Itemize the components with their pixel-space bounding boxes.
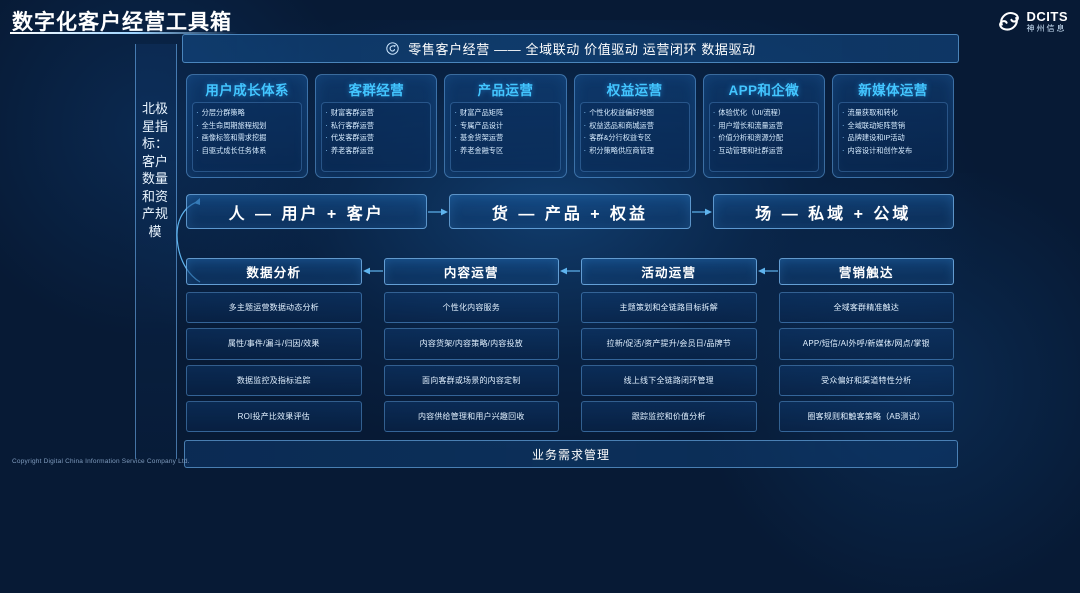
card-item: ·权益选品和商城运营 (584, 120, 686, 133)
grid-cell[interactable]: 数据监控及指标追踪 (186, 365, 362, 396)
card-item: ·自驱式成长任务体系 (196, 145, 298, 158)
grid-cell-label: APP/短信/AI外呼/新媒体/网点/掌银 (803, 338, 930, 349)
card-item-label: 财富客群运营 (331, 107, 374, 120)
card-item: ·基金货架运营 (454, 132, 556, 145)
compass-arrow-icon (385, 41, 400, 56)
card-item: ·个性化权益偏好地图 (584, 107, 686, 120)
grid-cell[interactable]: 线上线下全链路闭环管理 (581, 365, 757, 396)
card-item: ·流量获取和转化 (842, 107, 944, 120)
grid-cell[interactable]: 个性化内容服务 (384, 292, 560, 323)
flow-box-people[interactable]: 人 — 用户 + 客户 (186, 194, 427, 229)
grid-cell-label: 面向客群或场景的内容定制 (422, 375, 520, 386)
card-item: ·互动管理和社群运营 (713, 145, 815, 158)
section-column-content-ops: 个性化内容服务 内容货架/内容策略/内容投放 面向客群或场景的内容定制 内容供给… (384, 292, 560, 432)
capability-card[interactable]: 客群经营 ·财富客群运营 ·私行客群运营 ·代发客群运营 ·养老客群运营 (315, 74, 437, 178)
card-item: ·积分策略供应商管理 (584, 145, 686, 158)
grid-cell[interactable]: 内容货架/内容策略/内容投放 (384, 328, 560, 359)
grid-cell-label: 跟踪监控和价值分析 (632, 411, 706, 422)
card-item-label: 客群&分行权益专区 (589, 132, 651, 145)
card-item-label: 养老金融专区 (460, 145, 503, 158)
arrow-left-icon (362, 266, 384, 276)
bullet-icon: · (454, 107, 457, 120)
bullet-icon: · (454, 132, 457, 145)
card-item-list: ·个性化权益偏好地图 ·权益选品和商城运营 ·客群&分行权益专区 ·积分策略供应… (580, 102, 690, 172)
capability-card[interactable]: 产品运营 ·财富产品矩阵 ·专属产品设计 ·基金货架运营 ·养老金融专区 (444, 74, 566, 178)
card-item-label: 权益选品和商城运营 (589, 120, 654, 133)
card-item-label: 积分策略供应商管理 (589, 145, 654, 158)
card-item-list: ·财富产品矩阵 ·专属产品设计 ·基金货架运营 ·养老金融专区 (450, 102, 560, 172)
card-item-label: 分层分群策略 (202, 107, 245, 120)
banner-text: 零售客户经营 —— 全域联动 价值驱动 运营闭环 数据驱动 (408, 39, 755, 58)
section-header-row: 数据分析 内容运营 活动运营 营销触达 (186, 258, 954, 284)
card-item-label: 画像标签和需求挖掘 (202, 132, 267, 145)
bullet-icon: · (713, 132, 716, 145)
bullet-icon: · (842, 145, 845, 158)
flow-box-label: 货 — 产品 + 权益 (492, 200, 648, 224)
section-header-marketing-reach[interactable]: 营销触达 (779, 258, 955, 285)
card-item: ·养老客群运营 (325, 145, 427, 158)
grid-cell-label: 数据监控及指标追踪 (237, 375, 311, 386)
brand-logo: DCITS 神州信息 (997, 9, 1069, 33)
grid-cell[interactable]: 主题策划和全链路目标拆解 (581, 292, 757, 323)
card-item: ·财富客群运营 (325, 107, 427, 120)
capability-card[interactable]: 新媒体运营 ·流量获取和转化 ·全域联动矩阵营销 ·品牌建设和IP活动 ·内容设… (832, 74, 954, 178)
card-item-label: 私行客群运营 (331, 120, 374, 133)
bullet-icon: · (584, 107, 587, 120)
card-item: ·客群&分行权益专区 (584, 132, 686, 145)
bullet-icon: · (325, 107, 328, 120)
bullet-icon: · (842, 132, 845, 145)
hero-banner: 零售客户经营 —— 全域联动 价值驱动 运营闭环 数据驱动 (182, 34, 959, 63)
card-item: ·体验优化（UI/流程） (713, 107, 815, 120)
card-item-label: 流量获取和转化 (848, 107, 898, 120)
card-item: ·财富产品矩阵 (454, 107, 556, 120)
flow-box-label: 场 — 私域 + 公域 (755, 200, 911, 224)
card-title: 客群经营 (348, 79, 404, 99)
logo-text-cn: 神州信息 (1027, 25, 1069, 33)
section-header-content-ops[interactable]: 内容运营 (384, 258, 560, 285)
section-header-label: 内容运营 (444, 262, 499, 281)
grid-cell-label: 受众偏好和渠道特性分析 (821, 375, 911, 386)
grid-cell-label: 圈客规则和触客策略（AB测试） (807, 411, 925, 422)
bottom-bar[interactable]: 业务需求管理 (184, 440, 958, 468)
card-item: ·代发客群运营 (325, 132, 427, 145)
grid-cell[interactable]: APP/短信/AI外呼/新媒体/网点/掌银 (779, 328, 955, 359)
card-item-label: 价值分析和资源分配 (718, 132, 783, 145)
card-item: ·画像标签和需求挖掘 (196, 132, 298, 145)
section-column-marketing-reach: 全域客群精准触达 APP/短信/AI外呼/新媒体/网点/掌银 受众偏好和渠道特性… (779, 292, 955, 432)
bottom-bar-label: 业务需求管理 (532, 446, 610, 463)
card-item: ·养老金融专区 (454, 145, 556, 158)
section-column-campaign-ops: 主题策划和全链路目标拆解 拉新/促活/资产提升/会员日/品牌节 线上线下全链路闭… (581, 292, 757, 432)
grid-cell[interactable]: 跟踪监控和价值分析 (581, 401, 757, 432)
card-item: ·品牌建设和IP活动 (842, 132, 944, 145)
capability-card[interactable]: APP和企微 ·体验优化（UI/流程） ·用户增长和流量运营 ·价值分析和资源分… (703, 74, 825, 178)
grid-cell-label: 内容供给管理和用户兴趣回收 (418, 411, 525, 422)
grid-cell-label: 线上线下全链路闭环管理 (624, 375, 714, 386)
grid-cell[interactable]: 圈客规则和触客策略（AB测试） (779, 401, 955, 432)
grid-cell[interactable]: 受众偏好和渠道特性分析 (779, 365, 955, 396)
bullet-icon: · (842, 107, 845, 120)
card-item-label: 互动管理和社群运营 (718, 145, 783, 158)
bullet-icon: · (713, 120, 716, 133)
grid-cell-label: ROI投产比效果评估 (238, 411, 310, 422)
grid-cell[interactable]: 属性/事件/漏斗/归因/效果 (186, 328, 362, 359)
grid-cell[interactable]: 多主题运营数据动态分析 (186, 292, 362, 323)
card-item-label: 自驱式成长任务体系 (202, 145, 267, 158)
bullet-icon: · (713, 145, 716, 158)
card-item-list: ·体验优化（UI/流程） ·用户增长和流量运营 ·价值分析和资源分配 ·互动管理… (709, 102, 819, 172)
bullet-icon: · (584, 145, 587, 158)
slide-canvas: 数字化客户经营工具箱 DCITS 神州信息 北极星指标：客户数量和资产规模 零售… (0, 0, 1080, 473)
section-header-label: 营销触达 (839, 262, 894, 281)
card-item-label: 个性化权益偏好地图 (589, 107, 654, 120)
card-item-label: 代发客群运营 (331, 132, 374, 145)
bullet-icon: · (325, 120, 328, 133)
grid-cell-label: 多主题运营数据动态分析 (229, 302, 319, 313)
flow-box-goods[interactable]: 货 — 产品 + 权益 (449, 194, 690, 229)
bullet-icon: · (325, 145, 328, 158)
flow-box-label: 人 — 用户 + 客户 (229, 200, 385, 224)
section-header-label: 数据分析 (246, 262, 301, 281)
section-header-data-analysis[interactable]: 数据分析 (186, 258, 362, 285)
grid-cell[interactable]: 内容供给管理和用户兴趣回收 (384, 401, 560, 432)
card-item-label: 基金货架运营 (460, 132, 503, 145)
section-item-grid: 多主题运营数据动态分析 属性/事件/漏斗/归因/效果 数据监控及指标追踪 ROI… (186, 292, 954, 432)
grid-cell-label: 主题策划和全链路目标拆解 (620, 302, 718, 313)
bullet-icon: · (196, 132, 199, 145)
card-item-label: 用户增长和流量运营 (718, 120, 783, 133)
bullet-icon: · (196, 120, 199, 133)
grid-cell-label: 内容货架/内容策略/内容投放 (420, 338, 523, 349)
copyright-text: Copyright Digital China Information Serv… (12, 458, 190, 465)
bullet-icon: · (842, 120, 845, 133)
card-item: ·用户增长和流量运营 (713, 120, 815, 133)
card-title: 新媒体运营 (858, 79, 928, 99)
card-title: APP和企微 (728, 79, 799, 99)
card-item-list: ·分层分群策略 ·全生命周期旅程规划 ·画像标签和需求挖掘 ·自驱式成长任务体系 (192, 102, 302, 172)
card-item: ·价值分析和资源分配 (713, 132, 815, 145)
flow-row: 人 — 用户 + 客户 货 — 产品 + 权益 场 — 私域 + 公域 (186, 194, 954, 229)
grid-cell[interactable]: 面向客群或场景的内容定制 (384, 365, 560, 396)
card-item-label: 养老客群运营 (331, 145, 374, 158)
grid-cell-label: 个性化内容服务 (443, 302, 500, 313)
card-item: ·全生命周期旅程规划 (196, 120, 298, 133)
card-item-label: 财富产品矩阵 (460, 107, 503, 120)
bullet-icon: · (196, 107, 199, 120)
card-item: ·内容设计和创作发布 (842, 145, 944, 158)
card-item: ·全域联动矩阵营销 (842, 120, 944, 133)
card-item-label: 专属产品设计 (460, 120, 503, 133)
grid-cell[interactable]: ROI投产比效果评估 (186, 401, 362, 432)
card-title: 权益运营 (607, 79, 663, 99)
flow-box-field[interactable]: 场 — 私域 + 公域 (713, 194, 954, 229)
capability-card[interactable]: 权益运营 ·个性化权益偏好地图 ·权益选品和商城运营 ·客群&分行权益专区 ·积… (574, 74, 696, 178)
card-item: ·私行客群运营 (325, 120, 427, 133)
section-header-campaign-ops[interactable]: 活动运营 (581, 258, 757, 285)
grid-cell-label: 拉新/促活/资产提升/会员日/品牌节 (607, 338, 732, 349)
arrow-right-icon (691, 207, 713, 217)
grid-cell-label: 全域客群精准触达 (833, 302, 899, 313)
card-item: ·专属产品设计 (454, 120, 556, 133)
bullet-icon: · (584, 120, 587, 133)
section-header-label: 活动运营 (641, 262, 696, 281)
card-item-label: 体验优化（UI/流程） (718, 107, 785, 120)
card-title: 用户成长体系 (205, 79, 288, 99)
arrow-left-icon (559, 266, 581, 276)
card-item-list: ·财富客群运营 ·私行客群运营 ·代发客群运营 ·养老客群运营 (321, 102, 431, 172)
bullet-icon: · (584, 132, 587, 145)
card-item: ·分层分群策略 (196, 107, 298, 120)
card-item-label: 全生命周期旅程规划 (202, 120, 267, 133)
arrow-left-icon (757, 266, 779, 276)
grid-cell[interactable]: 拉新/促活/资产提升/会员日/品牌节 (581, 328, 757, 359)
bullet-icon: · (713, 107, 716, 120)
card-title: 产品运营 (478, 79, 534, 99)
dcits-swirl-logo-icon (997, 9, 1021, 33)
card-item-label: 内容设计和创作发布 (848, 145, 913, 158)
bullet-icon: · (454, 145, 457, 158)
grid-cell[interactable]: 全域客群精准触达 (779, 292, 955, 323)
capability-card-row: 用户成长体系 ·分层分群策略 ·全生命周期旅程规划 ·画像标签和需求挖掘 ·自驱… (186, 74, 954, 178)
grid-cell-label: 属性/事件/漏斗/归因/效果 (228, 338, 320, 349)
bullet-icon: · (196, 145, 199, 158)
capability-card[interactable]: 用户成长体系 ·分层分群策略 ·全生命周期旅程规划 ·画像标签和需求挖掘 ·自驱… (186, 74, 308, 178)
bullet-icon: · (454, 120, 457, 133)
arrow-right-icon (427, 207, 449, 217)
bullet-icon: · (325, 132, 328, 145)
north-star-label: 北极星指标：客户数量和资产规模 (137, 100, 173, 240)
section-column-data-analysis: 多主题运营数据动态分析 属性/事件/漏斗/归因/效果 数据监控及指标追踪 ROI… (186, 292, 362, 432)
card-item-label: 品牌建设和IP活动 (848, 132, 905, 145)
card-item-list: ·流量获取和转化 ·全域联动矩阵营销 ·品牌建设和IP活动 ·内容设计和创作发布 (838, 102, 948, 172)
card-item-label: 全域联动矩阵营销 (848, 120, 906, 133)
logo-text-en: DCITS (1027, 10, 1069, 23)
